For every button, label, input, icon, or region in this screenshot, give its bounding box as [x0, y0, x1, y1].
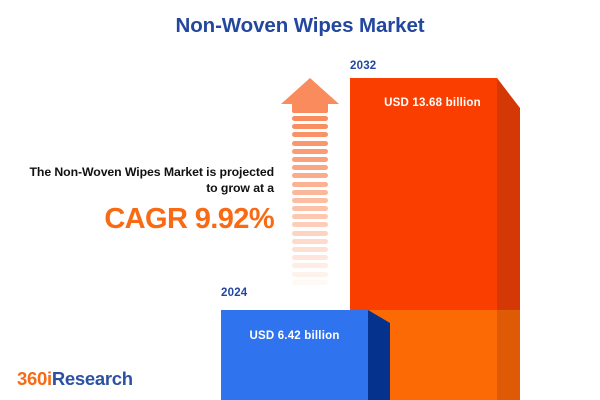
- arrow-head-icon: [281, 78, 339, 104]
- year-label-2032: 2032: [350, 60, 376, 72]
- growth-arrow-icon: [281, 78, 339, 293]
- arrow-shaft-segment: [292, 214, 328, 219]
- cagr-intro-text: The Non-Woven Wipes Market is projected …: [22, 165, 274, 196]
- arrow-shaft-segment: [292, 116, 328, 121]
- arrow-shaft-segment: [292, 239, 328, 244]
- bar-2032-side-face-lower: [497, 310, 520, 400]
- brand-logo: 360iResearch: [17, 368, 133, 390]
- arrow-shaft-segment: [292, 198, 328, 203]
- arrow-shaft-segment: [292, 247, 328, 252]
- page-title: Non-Woven Wipes Market: [0, 14, 600, 38]
- arrow-neck: [292, 103, 328, 113]
- arrow-shaft-segment: [292, 173, 328, 178]
- arrow-shaft-segment: [292, 124, 328, 129]
- arrow-shaft-segment: [292, 149, 328, 154]
- bar-2024: USD 6.42 billion: [221, 310, 390, 400]
- arrow-shaft-segment: [292, 231, 328, 236]
- arrow-shaft-segment: [292, 255, 328, 260]
- arrow-shaft-segment: [292, 288, 328, 293]
- logo-prefix: 360i: [17, 368, 52, 389]
- bar-2024-side-face: [368, 310, 390, 400]
- arrow-shaft-segment: [292, 272, 328, 277]
- bar-2032-value-label: USD 13.68 billion: [368, 97, 497, 109]
- logo-suffix: Research: [52, 368, 133, 389]
- arrow-shaft-segment: [292, 206, 328, 211]
- cagr-callout: The Non-Woven Wipes Market is projected …: [22, 165, 274, 236]
- bar-2024-value-label: USD 6.42 billion: [221, 330, 368, 342]
- arrow-shaft: [292, 116, 328, 293]
- arrow-shaft-segment: [292, 132, 328, 137]
- bar-2032-front-face-upper: [350, 78, 497, 310]
- arrow-shaft-segment: [292, 141, 328, 146]
- arrow-shaft-segment: [292, 222, 328, 227]
- bar-2024-front-face: [221, 310, 368, 400]
- infographic-canvas: Non-Woven Wipes Market 2032 USD 13.68 bi…: [0, 0, 600, 400]
- arrow-shaft-segment: [292, 280, 328, 285]
- arrow-shaft-segment: [292, 263, 328, 268]
- arrow-shaft-segment: [292, 182, 328, 187]
- arrow-shaft-segment: [292, 165, 328, 170]
- cagr-value-text: CAGR 9.92%: [22, 203, 274, 236]
- year-label-2024: 2024: [221, 287, 247, 299]
- arrow-shaft-segment: [292, 190, 328, 195]
- arrow-shaft-segment: [292, 157, 328, 162]
